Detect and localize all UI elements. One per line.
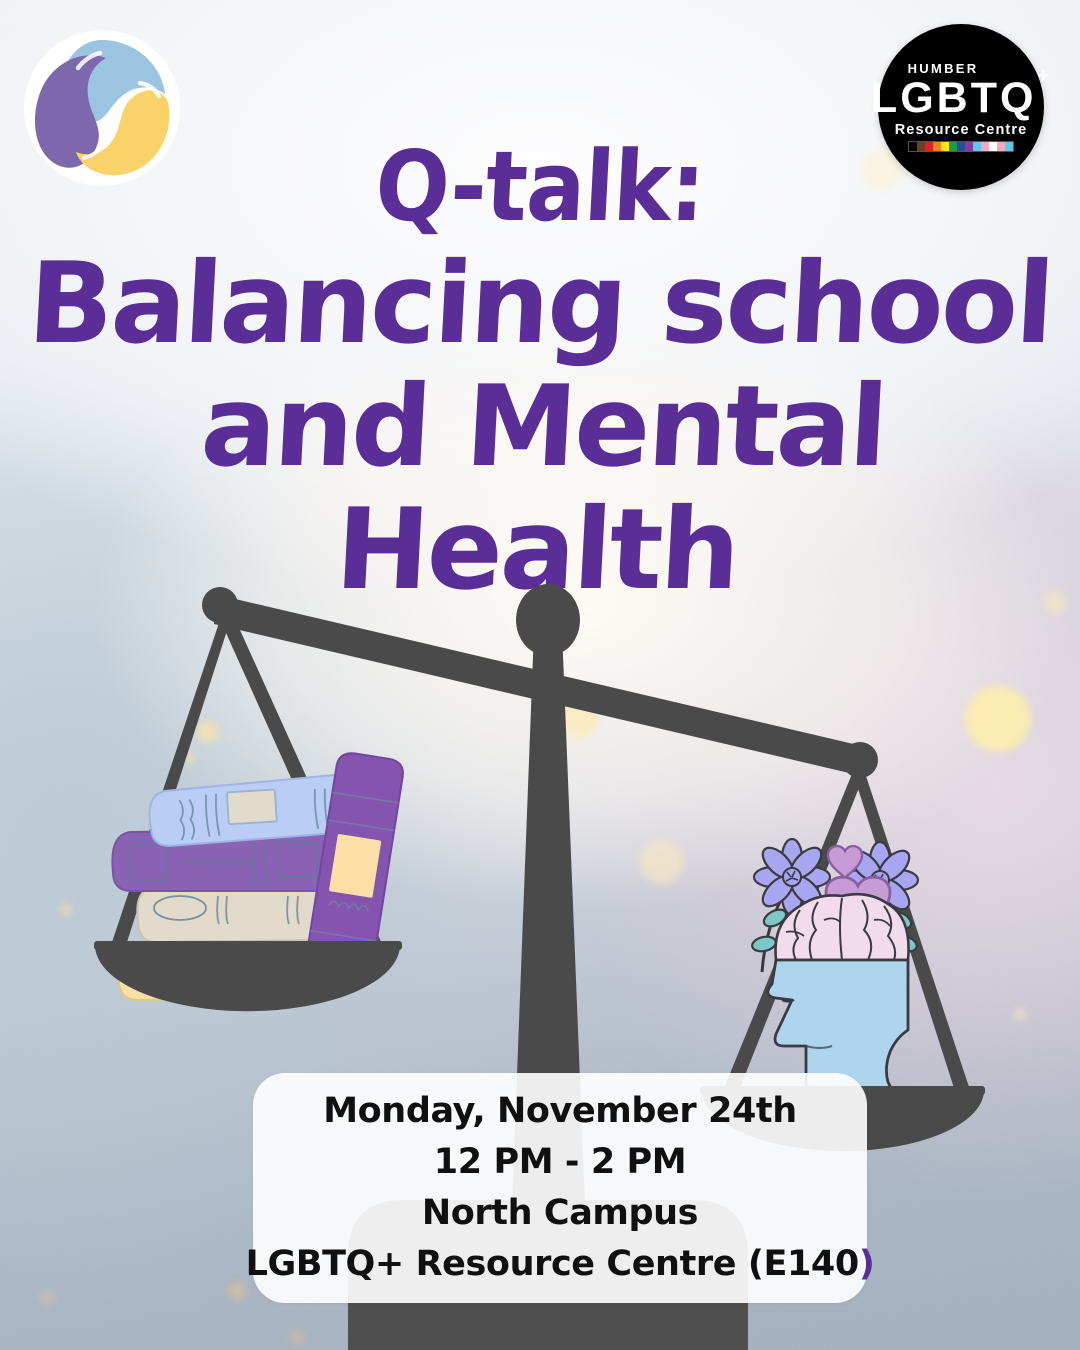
- book-beige: [137, 884, 336, 942]
- event-location: LGBTQ+ Resource Centre (E140): [246, 1239, 875, 1290]
- event-poster: HUMBER LGBTQ+ Resource Centre Q-talk: Ba…: [0, 0, 1080, 1350]
- event-details-panel: Monday, November 24th 12 PM - 2 PM North…: [253, 1073, 867, 1303]
- mental-health-illustration: [751, 839, 919, 1110]
- leaf: [751, 935, 777, 954]
- scale-knob: [516, 584, 580, 656]
- event-campus: North Campus: [422, 1188, 698, 1239]
- event-location-paren: ): [859, 1244, 875, 1284]
- event-location-text: LGBTQ+ Resource Centre (E140: [246, 1244, 859, 1284]
- event-date: Monday, November 24th: [323, 1086, 797, 1137]
- left-scale-pan: [95, 945, 400, 1011]
- event-time: 12 PM - 2 PM: [434, 1137, 687, 1188]
